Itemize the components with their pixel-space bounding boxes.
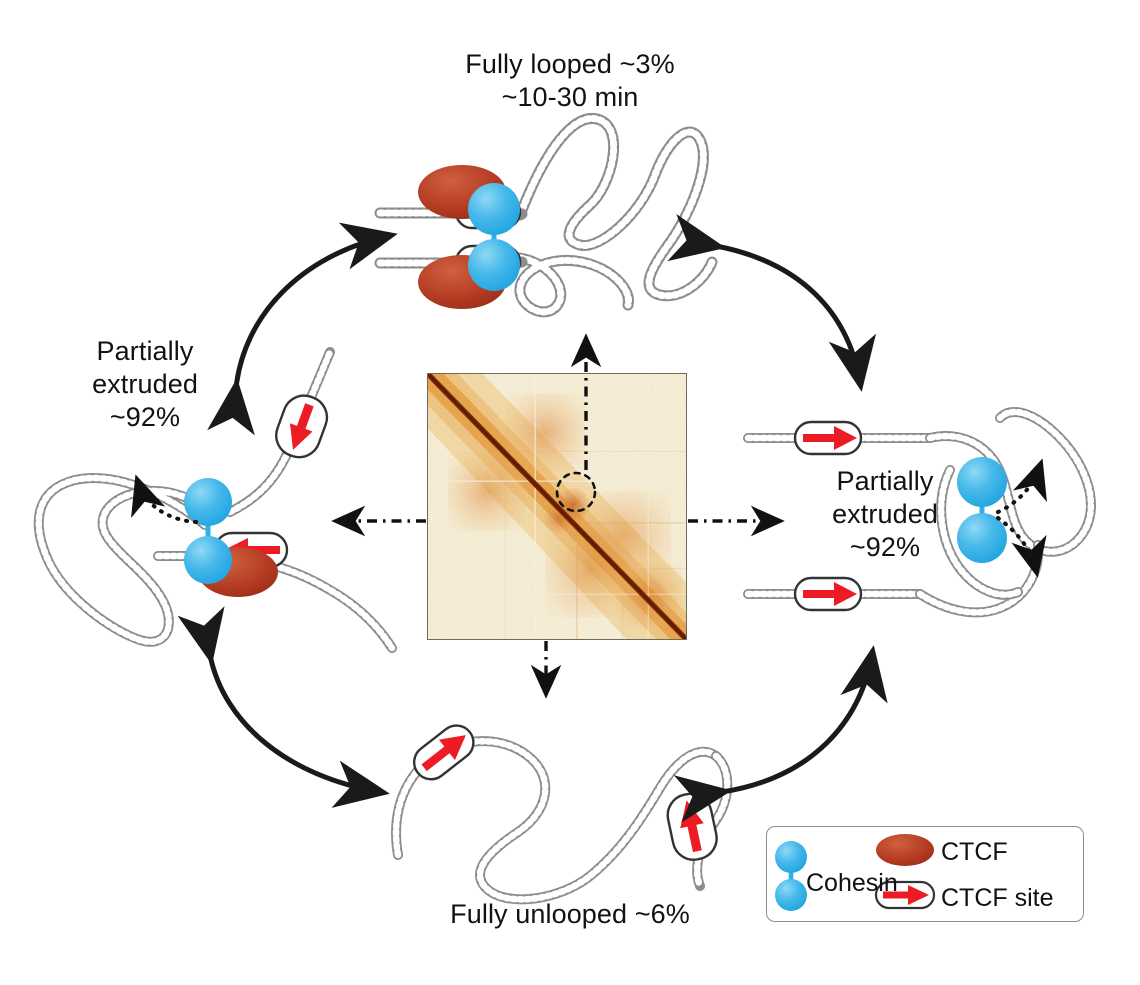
cohesin-complex-left (184, 478, 232, 584)
figure-canvas: Fully looped ~3% ~10-30 min Partially ex… (0, 0, 1140, 985)
arrow-top-to-right (716, 246, 860, 382)
arrow-left-to-bottom (210, 655, 380, 792)
ctcf-site-left-upper-arm (270, 390, 333, 463)
ctcf-site-bottom-right (664, 790, 721, 864)
legend-cohesin-label: Cohesin (806, 869, 898, 898)
state-transition-arrows (210, 236, 872, 792)
arrow-left-to-top (236, 236, 388, 388)
ctcf-site-right-lower (795, 578, 861, 610)
legend-ctcf-site-label: CTCF site (941, 884, 1054, 913)
arrow-bottom-to-right (722, 655, 872, 792)
cohesin-complex-top (468, 183, 520, 291)
legend-ctcf-label: CTCF (941, 838, 1008, 867)
ctcf-site-right-upper (795, 422, 861, 454)
hic-pointer-lines (338, 340, 778, 692)
